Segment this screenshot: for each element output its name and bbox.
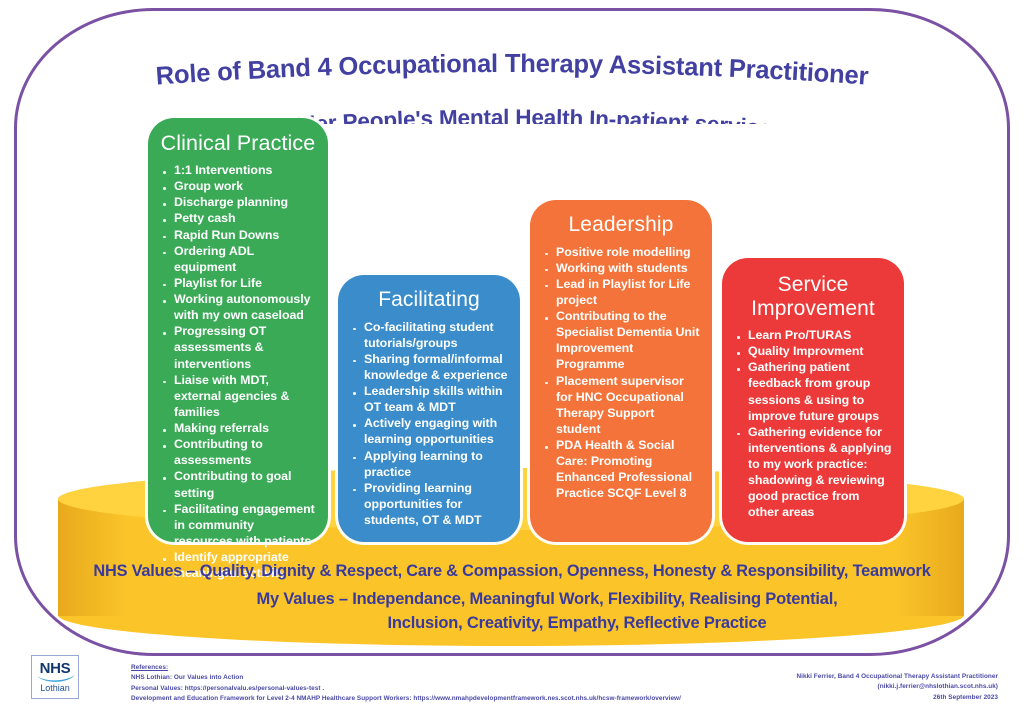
- author-credit-block: Nikki Ferrier, Band 4 Occupational Thera…: [796, 672, 998, 703]
- list-item: Discharge planning: [174, 194, 316, 210]
- author-name-role: Nikki Ferrier, Band 4 Occupational Thera…: [796, 672, 998, 682]
- card-list-leadership: Positive role modelling Working with stu…: [540, 244, 702, 502]
- list-item: Quality Improvment: [748, 343, 892, 359]
- list-item: Applying learning to practice: [364, 448, 508, 480]
- card-title-leadership: Leadership: [540, 213, 702, 237]
- reference-line-2: Personal Values: https://personalvalu.es…: [131, 684, 681, 694]
- list-item: Providing learning opportunities for stu…: [364, 480, 508, 528]
- values-text-block: NHS Values – Quality, Dignity & Respect,…: [62, 562, 962, 633]
- list-item: Gathering patient feedback from group se…: [748, 359, 892, 424]
- list-item: Placement supervisor for HNC Occupationa…: [556, 373, 700, 438]
- list-item: Liaise with MDT, external agencies & fam…: [174, 372, 316, 420]
- list-item: Working with students: [556, 260, 700, 276]
- nhs-values-line: NHS Values – Quality, Dignity & Respect,…: [67, 562, 958, 581]
- list-item: Ordering ADL equipment: [174, 243, 316, 275]
- author-email: (nikki.j.ferrier@nhslothian.scot.nhs.uk): [796, 682, 998, 692]
- references-heading: References:: [131, 663, 681, 673]
- list-item: Group work: [174, 178, 316, 194]
- list-item: Positive role modelling: [556, 244, 700, 260]
- card-title-clinical-practice: Clinical Practice: [158, 131, 318, 155]
- nhs-lothian-logo: NHS Lothian: [31, 655, 79, 699]
- reference-line-3: Development and Education Framework for …: [131, 694, 681, 704]
- list-item: Learn Pro/TURAS: [748, 327, 892, 343]
- my-values-line-1: My Values – Independance, Meaningful Wor…: [62, 590, 962, 609]
- logo-region-text: Lothian: [32, 683, 78, 693]
- list-item: Contributing to goal setting: [174, 468, 316, 500]
- card-title-facilitating: Facilitating: [348, 288, 510, 312]
- card-title-service-improvement: Service Improvement: [732, 273, 894, 320]
- list-item: Rapid Run Downs: [174, 227, 316, 243]
- list-item: Contributing to assessments: [174, 436, 316, 468]
- card-list-facilitating: Co-facilitating student tutorials/groups…: [348, 319, 510, 529]
- list-item: Leadership skills within OT team & MDT: [364, 383, 508, 415]
- list-item: Actively engaging with learning opportun…: [364, 415, 508, 447]
- list-item: PDA Health & Social Care: Promoting Enha…: [556, 437, 700, 502]
- reference-line-1: NHS Lothian: Our Values into Action: [131, 673, 681, 683]
- card-service-improvement: Service Improvement Learn Pro/TURAS Qual…: [722, 258, 904, 542]
- references-block: References: NHS Lothian: Our Values into…: [131, 663, 681, 705]
- card-list-service-improvement: Learn Pro/TURAS Quality Improvment Gathe…: [732, 327, 894, 521]
- card-list-clinical-practice: 1:1 Interventions Group work Discharge p…: [158, 162, 318, 581]
- my-values-line-2: Inclusion, Creativity, Empathy, Reflecti…: [62, 614, 962, 633]
- card-leadership: Leadership Positive role modelling Worki…: [530, 200, 712, 542]
- logo-swoosh-icon: [37, 675, 75, 683]
- list-item: Gathering evidence for interventions & a…: [748, 424, 892, 521]
- card-facilitating: Facilitating Co-facilitating student tut…: [338, 275, 520, 542]
- list-item: Working autonomously with my own caseloa…: [174, 291, 316, 323]
- poster-date: 26th September 2023: [796, 693, 998, 703]
- list-item: Making referrals: [174, 420, 316, 436]
- list-item: Sharing formal/informal knowledge & expe…: [364, 351, 508, 383]
- card-clinical-practice: Clinical Practice 1:1 Interventions Grou…: [148, 118, 328, 542]
- list-item: 1:1 Interventions: [174, 162, 316, 178]
- list-item: Progressing OT assessments & interventio…: [174, 323, 316, 371]
- list-item: Lead in Playlist for Life project: [556, 276, 700, 308]
- list-item: Playlist for Life: [174, 275, 316, 291]
- poster-canvas: Role of Band 4 Occupational Therapy Assi…: [0, 0, 1024, 727]
- list-item: Co-facilitating student tutorials/groups: [364, 319, 508, 351]
- list-item: Contributing to the Specialist Dementia …: [556, 308, 700, 373]
- list-item: Petty cash: [174, 210, 316, 226]
- list-item: Facilitating engagement in community res…: [174, 501, 316, 549]
